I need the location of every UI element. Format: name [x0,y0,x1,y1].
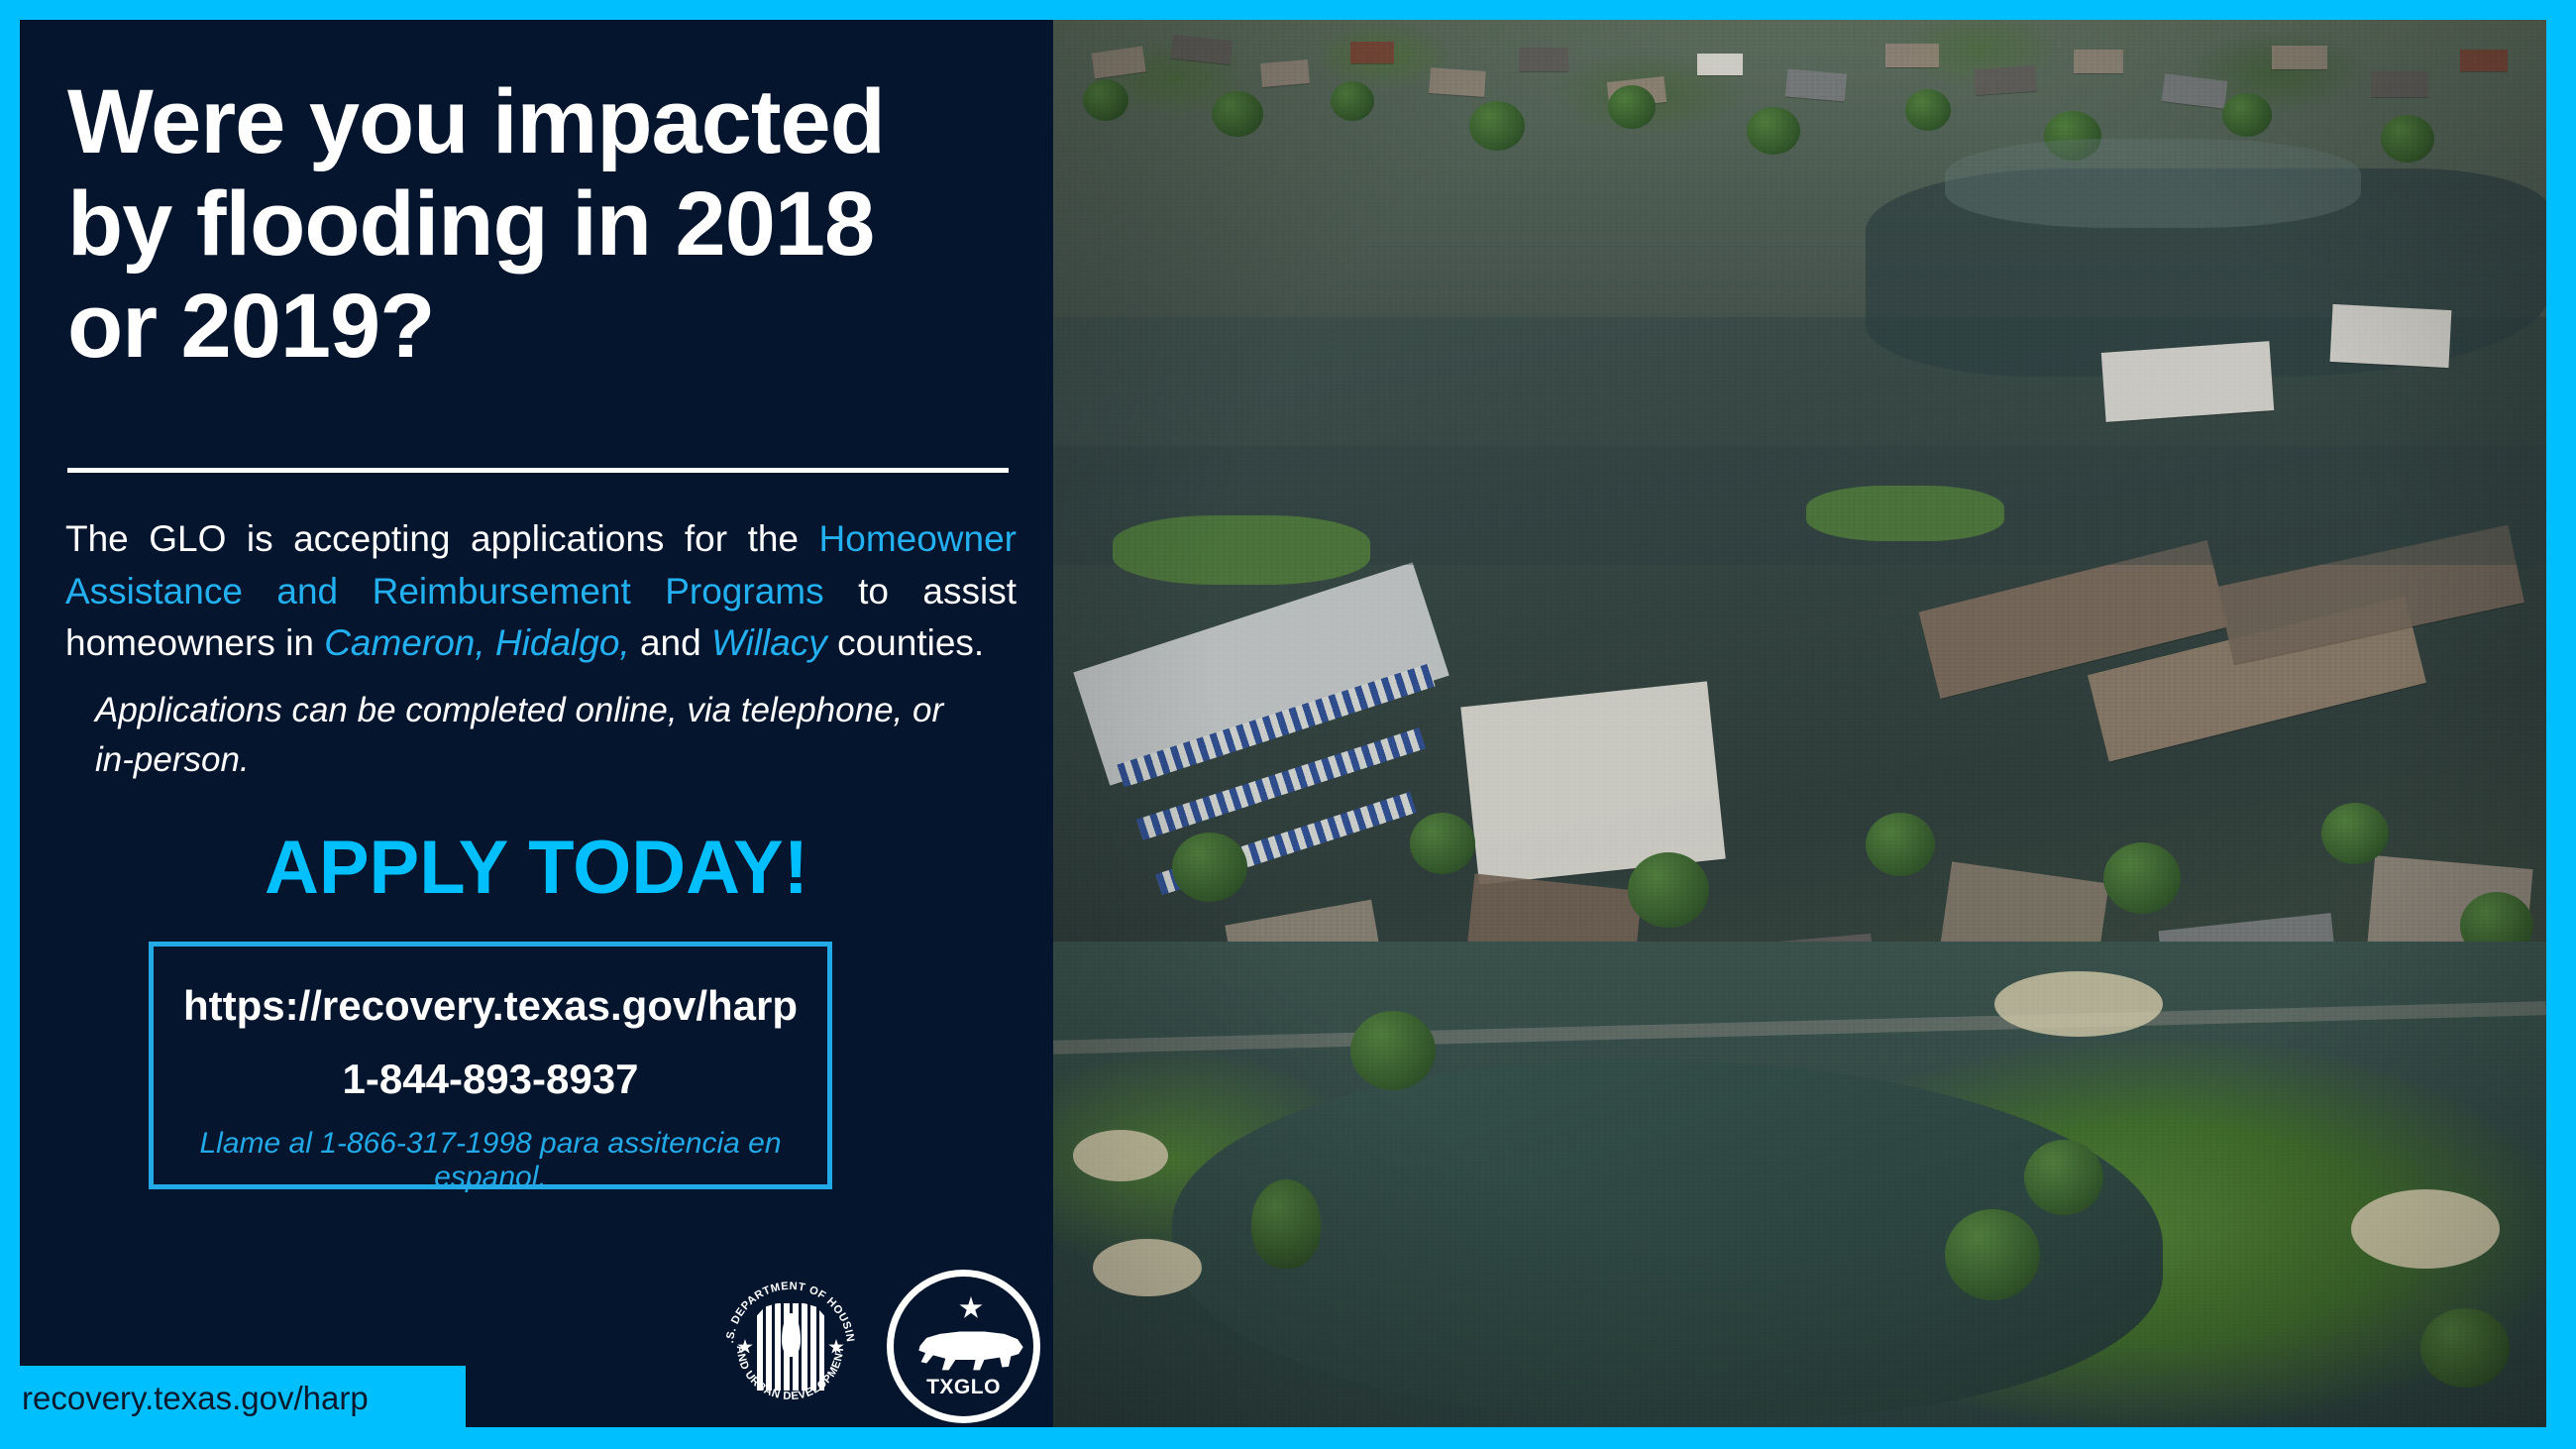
photo-vignette [1053,20,2546,1427]
application-url[interactable]: https://recovery.texas.gov/harp [154,982,827,1030]
headline-line-2: by flooding in 2018 [67,173,1019,276]
apply-today-heading: APPLY TODAY! [20,825,1053,911]
applications-note: Applications can be completed online, vi… [95,686,987,784]
body-text-part3: and [630,622,711,663]
page-title: Were you impacted by flooding in 2018 or… [67,71,1019,378]
body-paragraph: The GLO is accepting applications for th… [65,513,1017,670]
hud-seal-logo: U.S. DEPARTMENT OF HOUSING AND URBAN DEV… [713,1270,867,1423]
txglo-seal-logo: TXGLO [887,1270,1040,1423]
bison-icon [915,1324,1026,1382]
county-willacy: Willacy [711,622,827,663]
county-cameron-hidalgo: Cameron, Hidalgo, [324,622,629,663]
spanish-assistance-line: Llame al 1-866-317-1998 para assitencia … [154,1127,827,1194]
flood-assistance-poster: Were you impacted by flooding in 2018 or… [0,0,2576,1449]
body-text-part4: counties. [827,622,984,663]
flood-aerial-photo [1053,20,2546,1427]
footer-url-text: recovery.texas.gov/harp [22,1380,369,1417]
star-icon [959,1296,983,1320]
txglo-label: TXGLO [894,1376,1033,1399]
bottom-accent-strip [0,1427,2576,1449]
footer-url-tab[interactable]: recovery.texas.gov/harp [0,1366,466,1427]
body-text-part1: The GLO is accepting applications for th… [65,518,819,559]
content-panel: Were you impacted by flooding in 2018 or… [20,20,1053,1427]
headline-line-3: or 2019? [67,276,1019,378]
application-phone[interactable]: 1-844-893-8937 [154,1056,827,1103]
headline-line-1: Were you impacted [67,71,1019,173]
contact-box: https://recovery.texas.gov/harp 1-844-89… [149,942,832,1189]
logo-group: U.S. DEPARTMENT OF HOUSING AND URBAN DEV… [713,1267,1040,1430]
divider-rule [67,468,1009,473]
